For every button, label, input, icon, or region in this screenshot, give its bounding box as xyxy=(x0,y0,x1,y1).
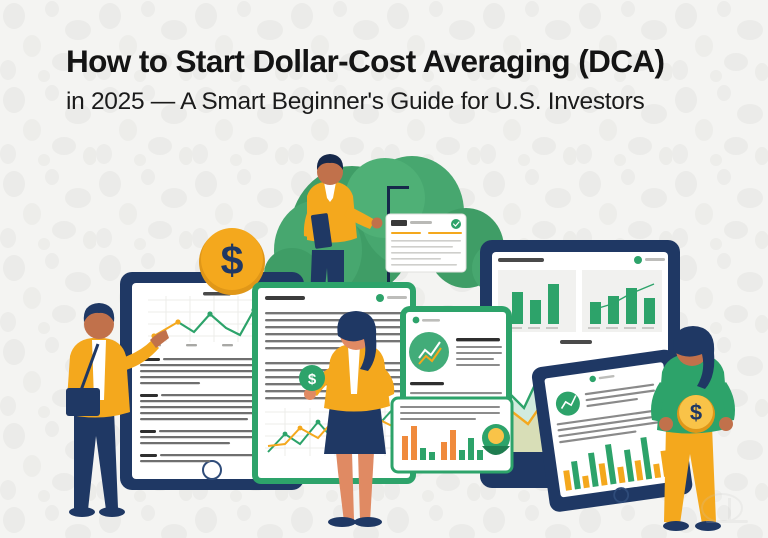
banner-root: How to Start Dollar-Cost Averaging (DCA)… xyxy=(0,0,768,538)
bottom-bar-chart-panel xyxy=(392,398,512,472)
svg-text:$: $ xyxy=(221,237,244,283)
page-title: How to Start Dollar-Cost Averaging (DCA) xyxy=(66,44,756,79)
svg-text:$: $ xyxy=(690,400,702,425)
heading-block: How to Start Dollar-Cost Averaging (DCA)… xyxy=(66,44,756,116)
page-subtitle: in 2025 — A Smart Beginner's Guide for U… xyxy=(66,88,756,116)
coin-in-bowl-icon xyxy=(482,424,510,455)
money-bulb-icon: $ xyxy=(299,365,325,391)
svg-text:$: $ xyxy=(308,371,317,388)
held-dollar-coin: $ xyxy=(677,395,715,433)
corner-watermark xyxy=(698,490,756,530)
